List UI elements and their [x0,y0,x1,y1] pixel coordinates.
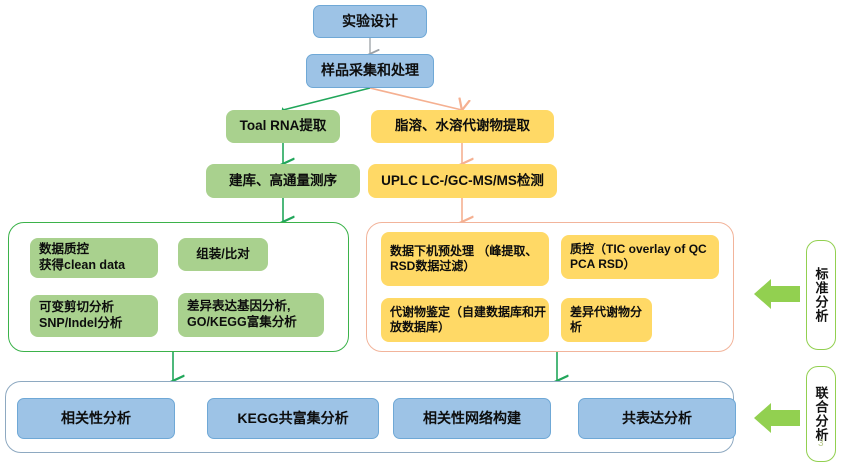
side-label-standard-analysis: 标准分析 [806,240,836,350]
node-rna-extraction[interactable]: Toal RNA提取 [226,110,340,143]
joint-analysis-arrow-icon [753,402,801,434]
node-sample-collection[interactable]: 样品采集和处理 [306,54,434,88]
bottom-panel-box-4[interactable]: 共表达分析 [578,398,736,439]
left-panel-box-2[interactable]: 组装/比对 [178,238,268,271]
left-panel-box-4[interactable]: 差异表达基因分析, GO/KEGG富集分析 [178,293,324,337]
left-panel-box-1[interactable]: 数据质控 获得clean data [30,238,158,278]
bottom-panel-box-1[interactable]: 相关性分析 [17,398,175,439]
node-metabolite-extraction[interactable]: 脂溶、水溶代谢物提取 [371,110,554,143]
node-uplc-detection[interactable]: UPLC LC-/GC-MS/MS检测 [368,164,557,198]
right-panel-box-1[interactable]: 数据下机预处理 （峰提取、RSD数据过滤） [381,232,549,286]
bottom-panel-box-2[interactable]: KEGG共富集分析 [207,398,379,439]
node-experiment-design[interactable]: 实验设计 [313,5,427,38]
node-library-sequencing[interactable]: 建库、高通量测序 [206,164,360,198]
right-panel-box-3[interactable]: 代谢物鉴定（自建数据库和开放数据库） [381,298,549,342]
standard-analysis-arrow-icon [753,278,801,310]
flowchart-canvas: 实验设计 样品采集和处理 Toal RNA提取 建库、高通量测序 脂溶、水溶代谢… [0,0,856,462]
bottom-panel-box-3[interactable]: 相关性网络构建 [393,398,551,439]
left-panel-box-3[interactable]: 可变剪切分析 SNP/Indel分析 [30,295,158,337]
right-panel-box-2[interactable]: 质控（TIC overlay of QC PCA RSD） [561,235,719,279]
right-panel-box-4[interactable]: 差异代谢物分析 [561,298,652,342]
page-artifact-marker: 3 [818,438,824,449]
